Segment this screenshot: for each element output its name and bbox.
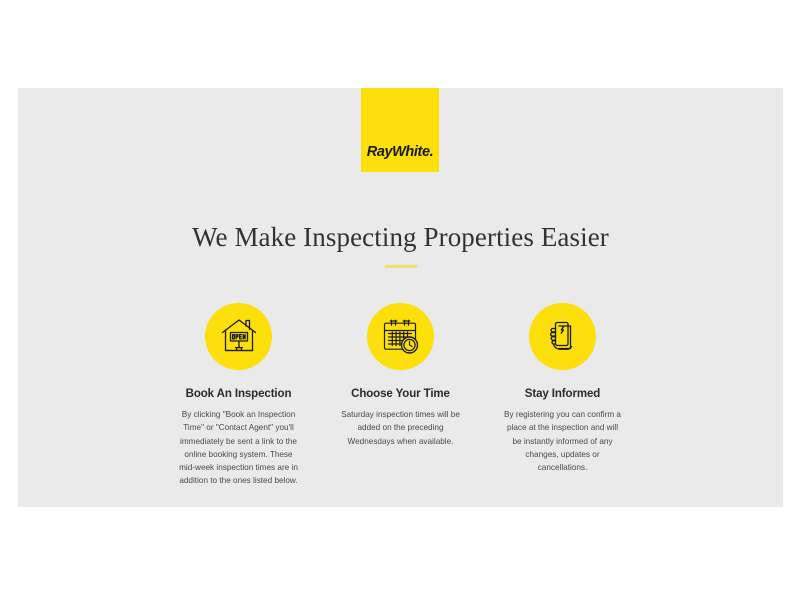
- feature-column-choose-your-time: Choose Your Time Saturday inspection tim…: [316, 303, 486, 448]
- content-panel: RayWhite. We Make Inspecting Properties …: [18, 88, 783, 507]
- hand-holding-phone-icon: [529, 303, 596, 370]
- feature-body: Saturday inspection times will be added …: [341, 408, 461, 448]
- raywhite-logo: RayWhite.: [361, 88, 439, 172]
- raywhite-logo-text: RayWhite.: [361, 144, 439, 160]
- feature-title: Choose Your Time: [351, 388, 450, 400]
- page-root: RayWhite. We Make Inspecting Properties …: [0, 0, 800, 600]
- title-divider: [385, 265, 417, 268]
- feature-title: Stay Informed: [525, 388, 600, 400]
- feature-column-stay-informed: Stay Informed By registering you can con…: [478, 303, 648, 474]
- calendar-clock-icon: [367, 303, 434, 370]
- page-title: We Make Inspecting Properties Easier: [18, 222, 783, 253]
- feature-columns: Book An Inspection By clicking "Book an …: [18, 303, 783, 488]
- feature-body: By clicking "Book an Inspection Time" or…: [179, 408, 299, 488]
- feature-column-book-an-inspection: Book An Inspection By clicking "Book an …: [154, 303, 324, 488]
- feature-body: By registering you can confirm a place a…: [503, 408, 623, 474]
- open-house-sign-icon: [205, 303, 272, 370]
- feature-title: Book An Inspection: [186, 388, 292, 400]
